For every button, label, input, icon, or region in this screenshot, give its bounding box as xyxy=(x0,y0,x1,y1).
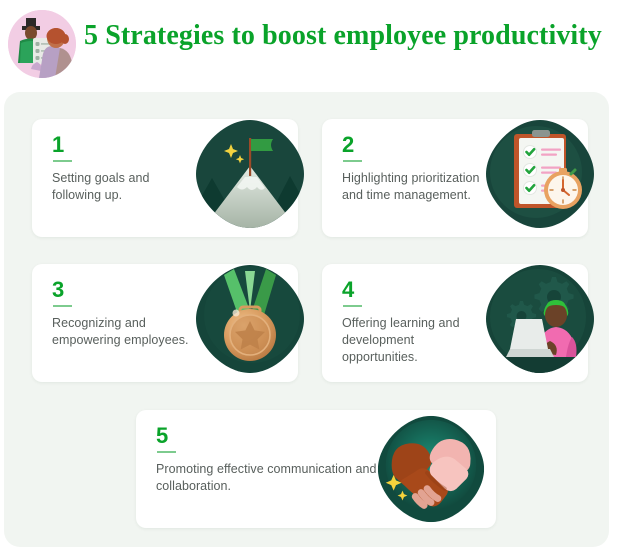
strategy-card-5-rule xyxy=(157,451,176,453)
strategy-card-3-number: 3 xyxy=(52,278,192,302)
strategy-card-2-description: Highlighting prioritization and time man… xyxy=(342,170,482,204)
strategy-card-2-text: 2 Highlighting prioritization and time m… xyxy=(342,133,482,204)
strategy-card-3-text: 3 Recognizing and empowering employees. xyxy=(52,278,192,349)
strategy-card-5[interactable]: 5 Promoting effective communication and … xyxy=(136,410,496,528)
strategy-card-5-description: Promoting effective communication and co… xyxy=(156,461,386,495)
clipboard-checklist-stopwatch-icon xyxy=(480,114,600,234)
strategy-card-2[interactable]: 2 Highlighting prioritization and time m… xyxy=(322,119,588,237)
strategy-card-1-rule xyxy=(53,160,72,162)
strategy-card-1-description: Setting goals and following up. xyxy=(52,170,192,204)
handshake-heart-icon xyxy=(372,410,490,528)
strategy-card-1-text: 1 Setting goals and following up. xyxy=(52,133,192,204)
strategy-card-2-number: 2 xyxy=(342,133,482,157)
strategy-card-2-rule xyxy=(343,160,362,162)
strategy-card-3-rule xyxy=(53,305,72,307)
strategy-card-1[interactable]: 1 Setting goals and following up. xyxy=(32,119,298,237)
two-people-review-icon xyxy=(8,10,76,78)
page-header: 5 Strategies to boost employee productiv… xyxy=(0,0,617,92)
strategy-card-3[interactable]: 3 Recognizing and empowering employees. xyxy=(32,264,298,382)
strategy-card-1-number: 1 xyxy=(52,133,192,157)
page-title: 5 Strategies to boost employee productiv… xyxy=(84,20,604,52)
strategy-card-3-description: Recognizing and empowering employees. xyxy=(52,315,192,349)
person-laptop-gears-icon xyxy=(480,259,600,379)
strategy-card-5-number: 5 xyxy=(156,424,386,448)
medal-star-icon xyxy=(190,259,310,379)
strategy-card-4-rule xyxy=(343,305,362,307)
strategy-card-4-text: 4 Offering learning and development oppo… xyxy=(342,278,482,366)
strategy-card-5-text: 5 Promoting effective communication and … xyxy=(156,424,386,495)
strategy-card-4[interactable]: 4 Offering learning and development oppo… xyxy=(322,264,588,382)
strategy-card-4-description: Offering learning and development opport… xyxy=(342,315,482,366)
mountain-flag-icon xyxy=(190,114,310,234)
strategy-card-4-number: 4 xyxy=(342,278,482,302)
